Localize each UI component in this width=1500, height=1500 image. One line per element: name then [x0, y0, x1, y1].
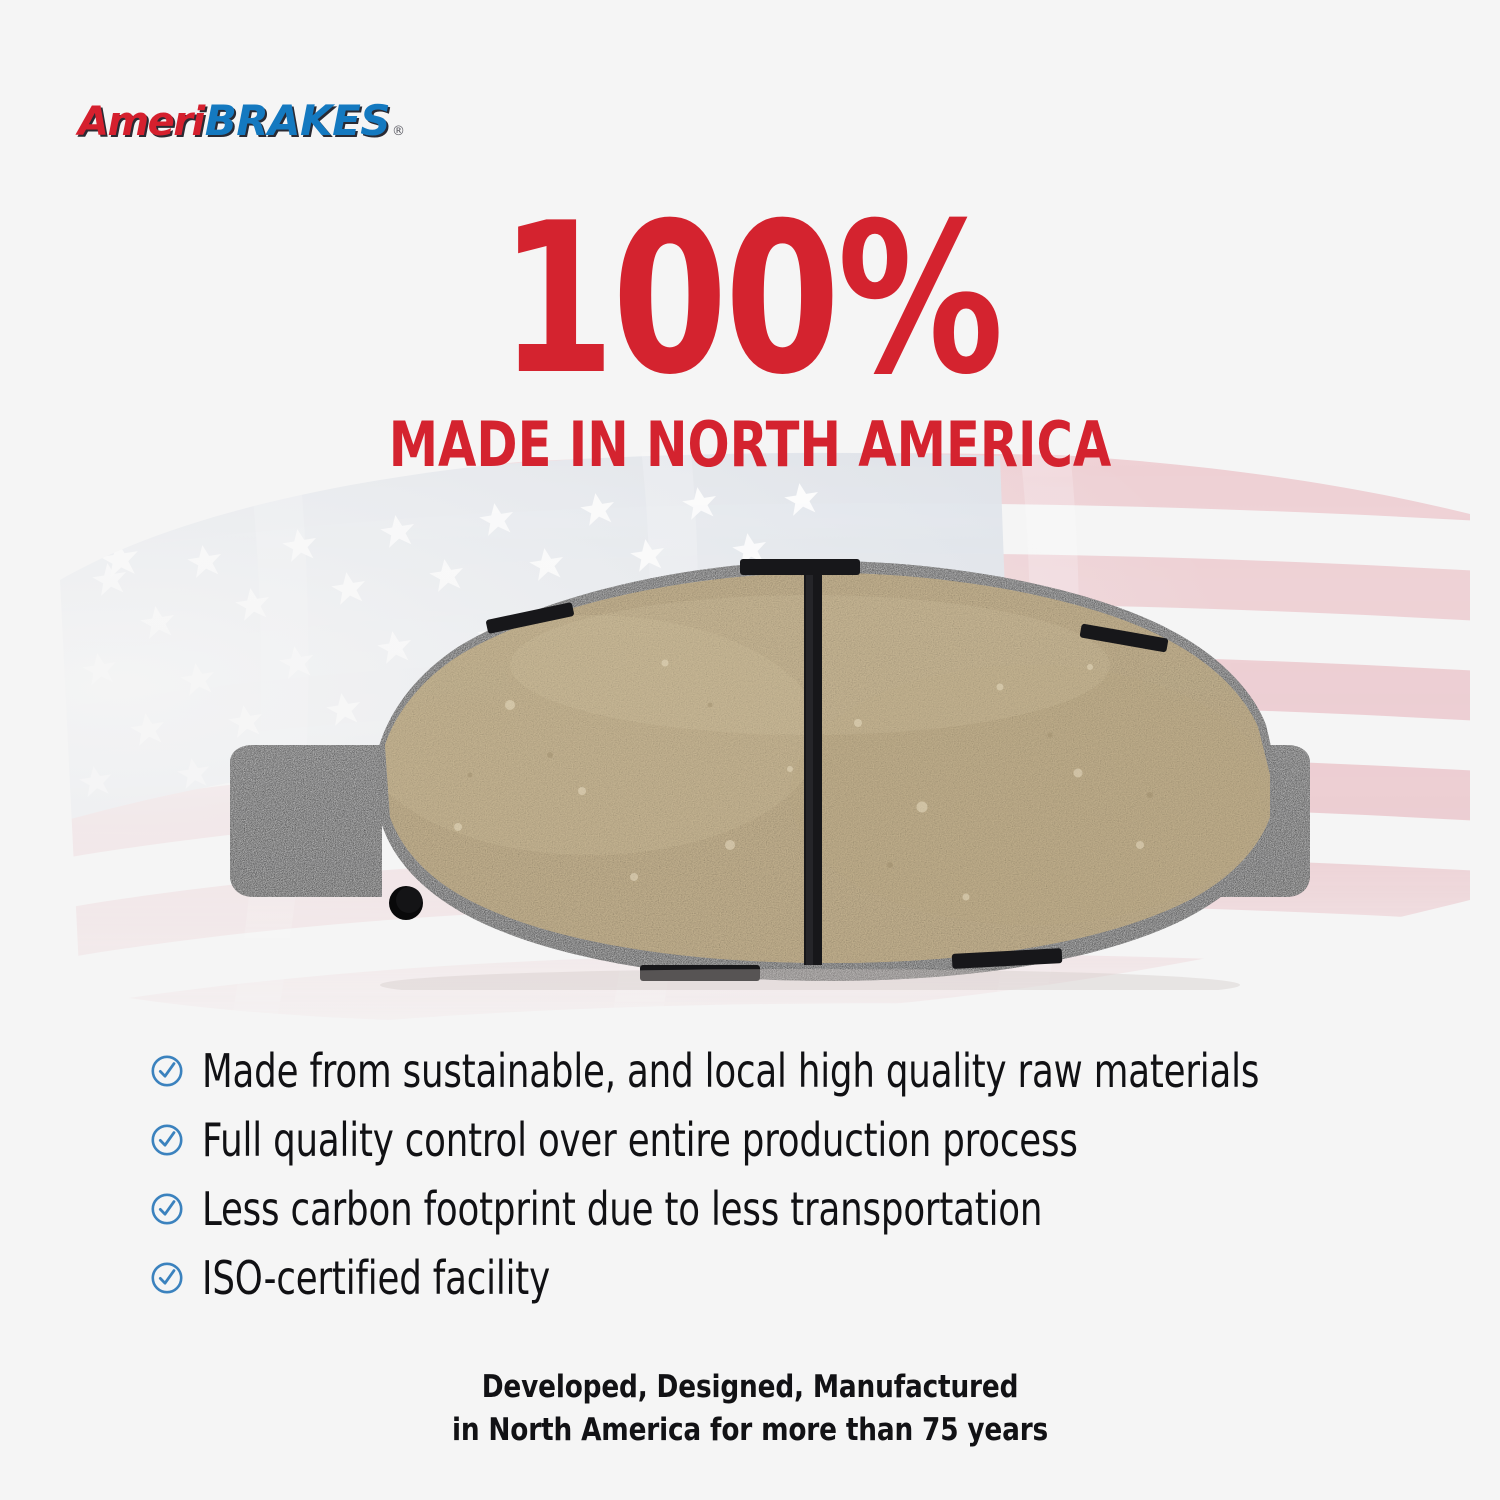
feature-item-2: Full quality control over entire product… [150, 1105, 1400, 1174]
check-circle-icon [150, 1261, 184, 1295]
footer-line-2: in North America for more than 75 years [113, 1409, 1388, 1452]
center-slot-groove [804, 571, 822, 965]
check-circle-icon [150, 1054, 184, 1088]
check-circle-icon [150, 1192, 184, 1226]
headline-subtitle: MADE IN NORTH AMERICA [150, 414, 1350, 476]
feature-list: Made from sustainable, and local high qu… [150, 1036, 1400, 1312]
feature-label: Made from sustainable, and local high qu… [202, 1048, 1259, 1094]
headline-percent: 100% [150, 205, 1350, 396]
brake-pad-svg [210, 545, 1330, 990]
registered-trademark-icon: ® [392, 125, 405, 138]
footer-line-1: Developed, Designed, Manufactured [113, 1366, 1388, 1409]
logo-text-ameri: Ameri [78, 102, 204, 142]
footer-block: Developed, Designed, Manufactured in Nor… [0, 1366, 1500, 1452]
brand-logo[interactable]: Ameri BRAKES ® [78, 100, 405, 142]
product-shadow [380, 969, 1240, 990]
feature-label: Less carbon footprint due to less transp… [202, 1186, 1042, 1232]
promo-banner: Ameri BRAKES ® 100% MADE IN NORTH AMERIC… [0, 0, 1500, 1500]
feature-item-3: Less carbon footprint due to less transp… [150, 1174, 1400, 1243]
feature-item-4: ISO-certified facility [150, 1243, 1400, 1312]
feature-label: Full quality control over entire product… [202, 1117, 1078, 1163]
feature-item-1: Made from sustainable, and local high qu… [150, 1036, 1400, 1105]
logo-text-brakes: BRAKES [205, 100, 390, 142]
headline-block: 100% MADE IN NORTH AMERICA [0, 205, 1500, 476]
feature-label: ISO-certified facility [202, 1255, 550, 1301]
product-image-brake-pad [210, 545, 1330, 990]
check-circle-icon [150, 1123, 184, 1157]
